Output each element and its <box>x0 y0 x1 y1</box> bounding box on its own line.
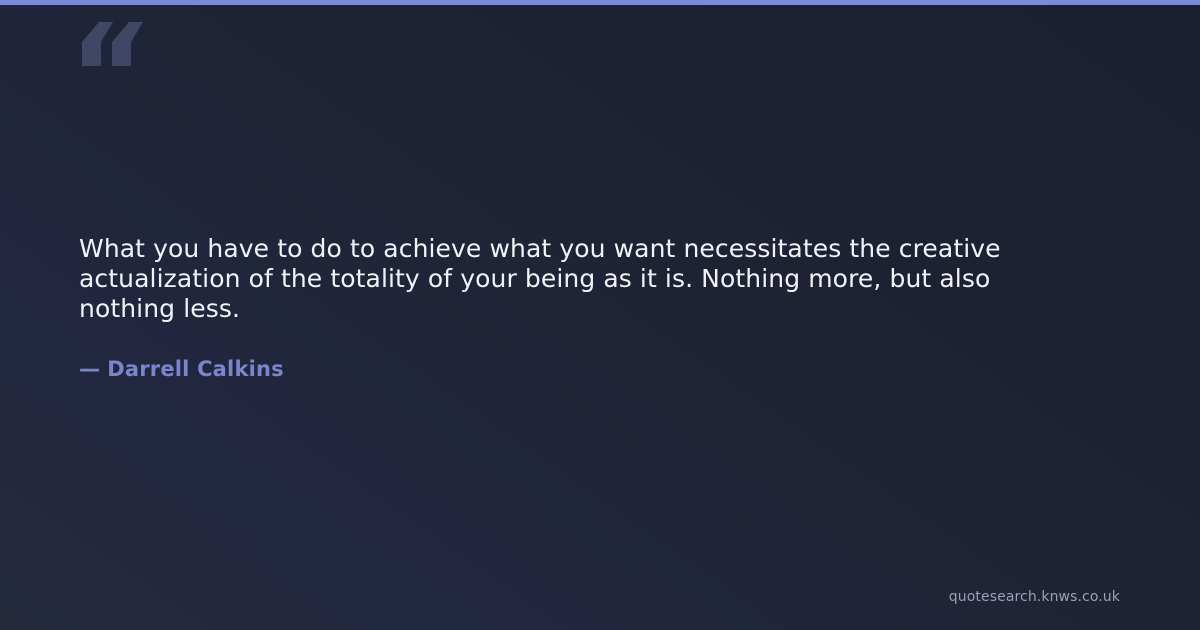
quote-text: What you have to do to achieve what you … <box>79 234 1079 324</box>
quote-content: What you have to do to achieve what you … <box>79 234 1079 382</box>
top-accent-bar <box>0 0 1200 5</box>
author-dash: — <box>79 356 100 382</box>
author-name: Darrell Calkins <box>107 357 284 381</box>
site-attribution: quotesearch.knws.co.uk <box>949 588 1120 606</box>
quote-card: What you have to do to achieve what you … <box>0 0 1200 630</box>
quotation-mark-icon <box>79 22 149 84</box>
quote-author: —Darrell Calkins <box>79 324 1079 382</box>
